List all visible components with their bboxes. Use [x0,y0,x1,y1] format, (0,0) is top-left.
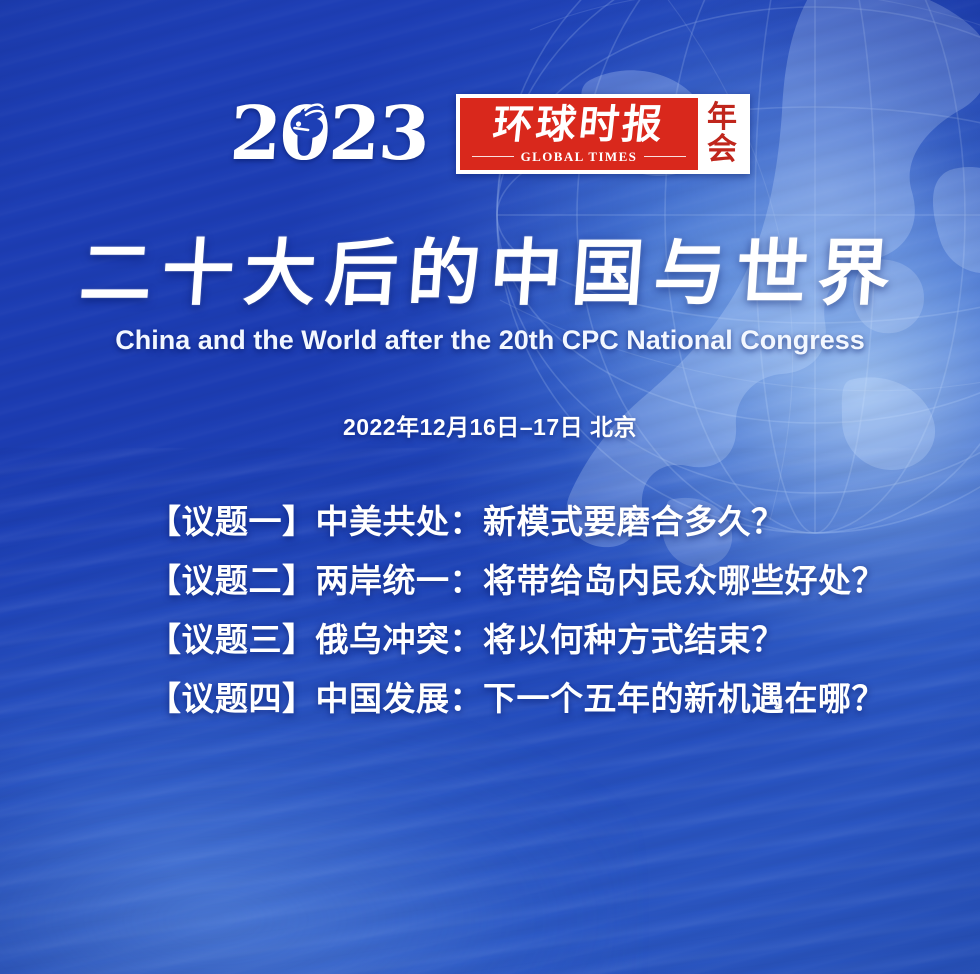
logo-english-name: GLOBAL TIMES [521,149,638,165]
event-date-location: 2022年12月16日–17日 北京 [0,408,980,442]
global-times-logo: 环球时报 GLOBAL TIMES 年 会 [456,94,750,174]
year-2023-text: 2023 [228,91,430,177]
poster-header: 2023 环球时报 GLOBAL TIMES [0,94,980,174]
annual-meeting-badge: 年 会 [698,98,746,170]
annual-meeting-char-hui: 会 [707,134,737,166]
page-title: 二十大后的中国与世界 [0,234,980,312]
logo-chinese-name: 环球时报 [491,105,667,146]
page-subtitle: China and the World after the 20th CPC N… [0,325,980,356]
logo-english-row: GLOBAL TIMES [472,149,686,165]
topic-list: 【议题一】中美共处：新模式要磨合多久？ 【议题二】两岸统一：将带给岛内民众哪些好… [148,505,885,715]
annual-meeting-char-nian: 年 [707,102,737,134]
logo-rule-right [644,156,686,157]
topic-item-1: 【议题一】中美共处：新模式要磨合多久？ [148,505,885,538]
conference-poster: 2023 环球时报 GLOBAL TIMES [0,0,980,974]
topic-item-4: 【议题四】中国发展：下一个五年的新机遇在哪？ [148,682,885,715]
topic-item-3: 【议题三】俄乌冲突：将以何种方式结束？ [148,623,885,656]
logo-rule-left [472,156,514,157]
year-2023-mark: 2023 [228,97,434,171]
topic-item-2: 【议题二】两岸统一：将带给岛内民众哪些好处？ [148,564,885,597]
logo-red-panel: 环球时报 GLOBAL TIMES [460,98,698,170]
